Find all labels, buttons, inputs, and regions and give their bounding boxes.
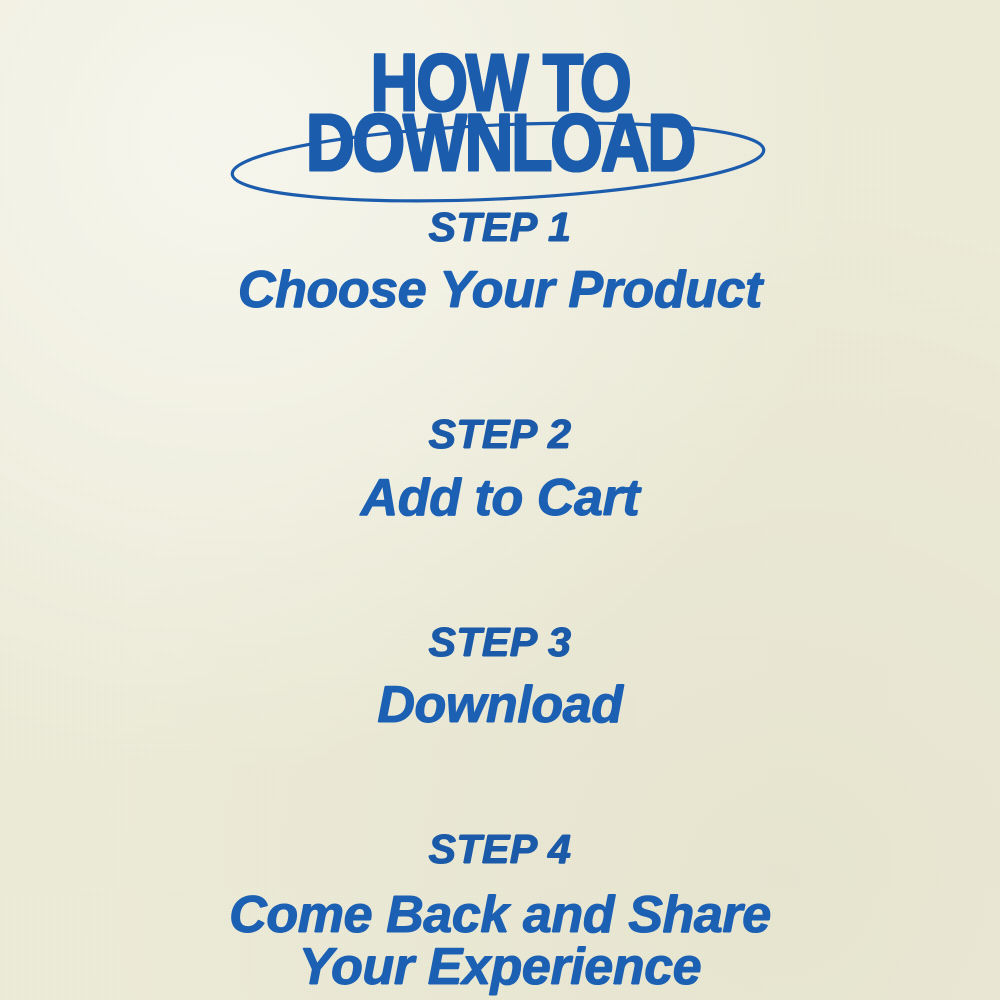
step-title-4-line-1: Come Back and Share [0, 889, 1000, 941]
step-label-3: STEP 3 [0, 620, 1000, 664]
step-item-4: STEP 4 Come Back and Share Your Experien… [0, 827, 1000, 993]
title-block: HOW TO DOWNLOAD [0, 30, 1000, 190]
step-title-1: Choose Your Product [0, 263, 1000, 317]
poster-canvas: HOW TO DOWNLOAD STEP 1 Choose Your Produ… [0, 0, 1000, 1000]
step-title-4-line-2: Your Experience [0, 941, 1000, 993]
step-label-2: STEP 2 [0, 412, 1000, 456]
step-title-1-line-1: Choose Your Product [0, 263, 1000, 317]
step-label-4: STEP 4 [0, 827, 1000, 871]
step-title-2: Add to Cart [0, 471, 1000, 525]
step-item-1: STEP 1 Choose Your Product [0, 205, 1000, 317]
step-title-3-line-1: Download [0, 678, 1000, 732]
step-item-2: STEP 2 Add to Cart [0, 412, 1000, 524]
steps-list: STEP 1 Choose Your Product STEP 2 Add to… [0, 205, 1000, 993]
step-title-2-line-1: Add to Cart [0, 471, 1000, 525]
step-label-1: STEP 1 [0, 205, 1000, 249]
step-title-4: Come Back and Share Your Experience [0, 889, 1000, 993]
step-title-3: Download [0, 678, 1000, 732]
page-title-line-2: DOWNLOAD [73, 102, 928, 183]
step-item-3: STEP 3 Download [0, 620, 1000, 732]
